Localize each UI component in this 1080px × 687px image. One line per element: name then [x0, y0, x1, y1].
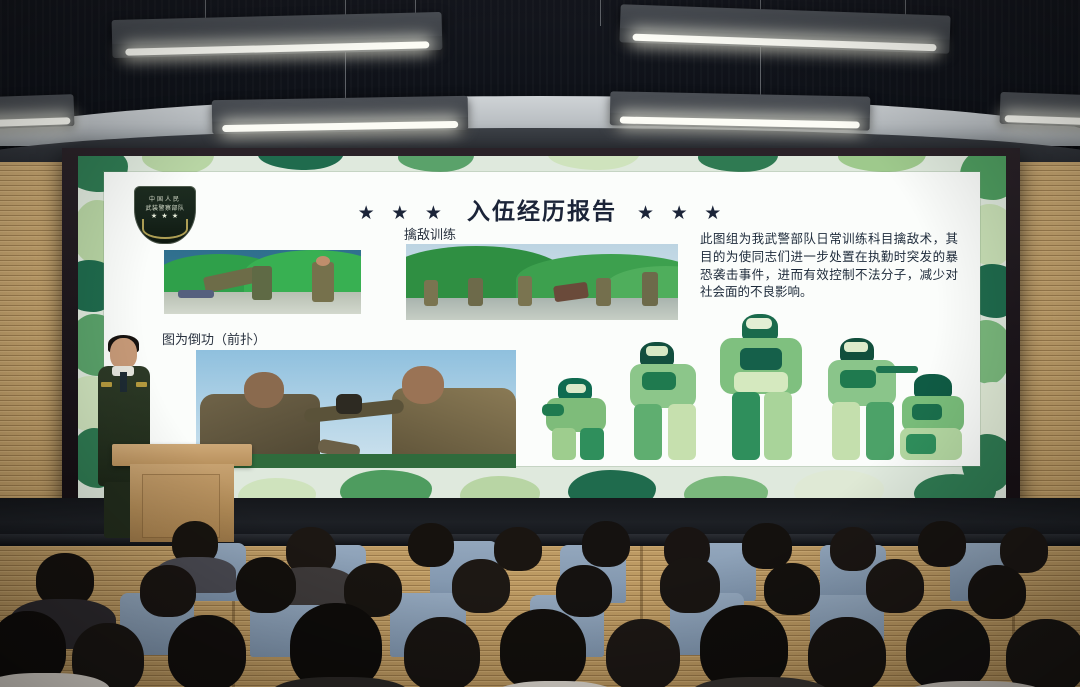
ceiling-light	[212, 96, 469, 134]
lamp-wire	[600, 0, 601, 26]
slide-title: ★ ★ ★ 入伍经历报告 ★ ★ ★	[104, 192, 980, 226]
audience-head	[830, 527, 876, 571]
title-text: 入伍经历报告	[467, 199, 617, 225]
ceiling-light	[0, 94, 75, 130]
audience-head	[500, 609, 586, 687]
training-photo-takedown	[164, 250, 361, 314]
audience-head	[290, 603, 382, 687]
audience-head	[582, 521, 630, 567]
ceiling-light	[112, 12, 443, 58]
soldier-silhouette	[624, 342, 708, 460]
speaker-shoulder-badge	[101, 382, 112, 387]
podium-top	[112, 444, 252, 466]
audience-head	[606, 619, 680, 687]
audience-head	[404, 617, 480, 687]
ceiling-light	[610, 91, 871, 130]
audience-head	[556, 565, 612, 617]
audience-head	[660, 557, 720, 613]
audience-head	[808, 617, 886, 687]
audience-head	[236, 557, 296, 613]
audience-head	[866, 559, 924, 613]
audience-head	[700, 605, 788, 687]
audience-head	[168, 615, 246, 687]
soldier-silhouette-saluting	[716, 314, 808, 460]
soldier-silhouette	[540, 378, 618, 460]
audience-head	[1006, 619, 1080, 687]
audience-head	[918, 521, 966, 567]
title-stars-right: ★ ★ ★	[637, 202, 726, 224]
auditorium-scene: 中国人民 武装警察部队 ★ ★ ★ ★ ★ ★ 入伍经历报告 ★ ★ ★ 擒敌训…	[0, 0, 1080, 687]
soldier-silhouette-kneeling	[898, 374, 972, 460]
audience-head	[494, 527, 542, 571]
audience-head	[906, 609, 990, 687]
audience-area	[0, 505, 1080, 687]
caption-bottom: 图为倒功（前扑）	[162, 329, 266, 348]
speaker-shoulder-badge	[136, 382, 147, 387]
audience-head	[140, 565, 196, 617]
caption-top: 擒敌训练	[404, 224, 456, 243]
audience-head	[968, 565, 1026, 619]
ceiling-light	[999, 92, 1080, 128]
audience-head	[408, 523, 454, 567]
speaker-head	[110, 338, 137, 369]
soldier-silhouette-group	[540, 310, 970, 460]
slide-body-text: 此图组为我武警部队日常训练科目擒敌术，其目的为使同志们进一步处置在执勤时突发的暴…	[700, 230, 958, 301]
speaker-tie	[120, 372, 127, 392]
audience-head	[764, 563, 820, 615]
audience-head	[452, 559, 510, 613]
training-photo-river	[406, 244, 678, 320]
audience-head	[742, 523, 792, 569]
slide-content-area: 中国人民 武装警察部队 ★ ★ ★ ★ ★ ★ 入伍经历报告 ★ ★ ★ 擒敌训…	[104, 172, 980, 466]
title-stars-left: ★ ★ ★	[358, 202, 447, 224]
